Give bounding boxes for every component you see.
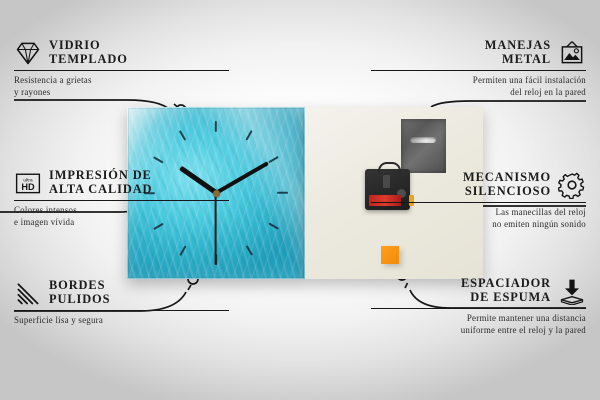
feature-mecanismo-silencioso: MECANISMO SILENCIOSO Las manecillas del … xyxy=(371,170,586,231)
feature-title-line2: SILENCIOSO xyxy=(463,184,551,198)
feature-desc-line1: Colores intensos xyxy=(14,205,229,217)
feature-title-line1: VIDRIO xyxy=(49,38,128,52)
feature-desc-line1: Superficie lisa y segura xyxy=(14,315,229,327)
gear-icon xyxy=(558,171,586,199)
feature-impresion-alta-calidad: ultra HD IMPRESIÓN DE ALTA CALIDAD Color… xyxy=(14,168,229,229)
feature-espaciador-espuma: ESPACIADOR DE ESPUMA Permite mantener un… xyxy=(371,276,586,337)
picture-frame-hanger-icon xyxy=(558,39,586,67)
hour-marker xyxy=(268,156,279,164)
feature-title-line1: ESPACIADOR xyxy=(461,276,551,290)
hour-marker xyxy=(268,222,279,230)
feature-title-line1: MECANISMO xyxy=(463,170,551,184)
hour-marker xyxy=(245,130,253,141)
diamond-icon xyxy=(14,39,42,67)
feature-title-line1: BORDES xyxy=(49,278,110,292)
feature-desc-line2: y rayones xyxy=(14,87,229,99)
feature-title-line2: METAL xyxy=(485,52,551,66)
metal-hanger-plate xyxy=(401,119,446,173)
hour-marker xyxy=(277,192,288,194)
hour-marker xyxy=(179,130,187,141)
infographic-canvas: VIDRIO TEMPLADO Resistencia a grietas y … xyxy=(0,0,600,400)
hour-marker xyxy=(153,156,164,164)
feature-desc-line2: e imagen vívida xyxy=(14,217,229,229)
feature-title-line2: TEMPLADO xyxy=(49,52,128,66)
divider xyxy=(371,202,586,204)
feature-desc-line1: Permite mantener una distancia xyxy=(371,313,586,325)
hour-marker xyxy=(179,245,187,256)
feature-desc-line1: Las manecillas del reloj xyxy=(371,207,586,219)
feature-desc-line1: Resistencia a grietas xyxy=(14,75,229,87)
feature-manejas-metal: MANEJAS METAL Permiten una fácil instala… xyxy=(371,38,586,99)
feature-title-line1: MANEJAS xyxy=(485,38,551,52)
feature-desc-line2: del reloj en la pared xyxy=(371,87,586,99)
feature-desc-line2: uniforme entre el reloj y la pared xyxy=(371,325,586,337)
foam-spacer-arrow-icon xyxy=(558,277,586,305)
feature-desc-line1: Permiten una fácil instalación xyxy=(371,75,586,87)
divider xyxy=(14,310,229,312)
feature-title-line2: DE ESPUMA xyxy=(461,290,551,304)
ultra-hd-icon: ultra HD xyxy=(14,169,42,197)
hanger-slot xyxy=(410,137,436,143)
feature-desc-line2: no emiten ningún sonido xyxy=(371,219,586,231)
feature-title-line1: IMPRESIÓN DE xyxy=(49,168,152,182)
feature-bordes-pulidos: BORDES PULIDOS Superficie lisa y segura xyxy=(14,278,229,327)
foam-spacer xyxy=(381,246,399,264)
feature-title-line2: ALTA CALIDAD xyxy=(49,182,152,196)
feature-title-line2: PULIDOS xyxy=(49,292,110,306)
divider xyxy=(14,200,229,202)
divider xyxy=(371,308,586,310)
feature-vidrio-templado: VIDRIO TEMPLADO Resistencia a grietas y … xyxy=(14,38,229,99)
divider xyxy=(371,70,586,72)
svg-text:HD: HD xyxy=(21,182,35,192)
polished-edges-icon xyxy=(14,279,42,307)
hour-marker xyxy=(215,121,217,132)
hour-marker xyxy=(245,245,253,256)
divider xyxy=(14,70,229,72)
